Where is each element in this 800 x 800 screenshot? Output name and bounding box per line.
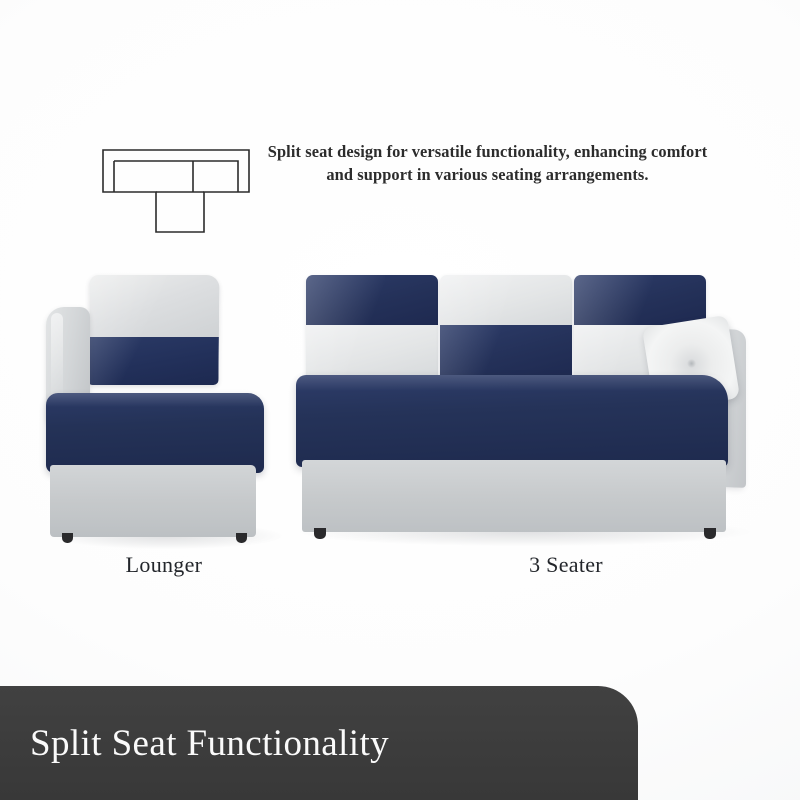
lounger-base [50, 465, 256, 537]
lounger-foot-left [62, 533, 73, 543]
product-3-seater[interactable] [296, 275, 766, 565]
product-infographic-canvas: Split seat design for versatile function… [0, 0, 800, 800]
product-lineup [0, 255, 800, 595]
product-lounger[interactable] [44, 275, 284, 565]
cushion-2-gloss [440, 275, 519, 380]
lounger-seat-cushion [46, 393, 264, 473]
lounger-foot-right [236, 533, 247, 543]
lounger-armrest-highlight [51, 313, 63, 405]
seater3-foot-left [314, 528, 326, 539]
throw-pillow-tuft [686, 358, 696, 368]
seater3-foot-right [704, 528, 716, 539]
cushion-1-gloss [306, 275, 385, 380]
lounger-back-cushion-sheen [88, 275, 174, 385]
cushion-3-gloss [574, 275, 653, 380]
bottom-banner: Split Seat Functionality [0, 686, 638, 800]
lounger-back-cushion [88, 275, 219, 385]
seater3-base [302, 460, 726, 532]
headline-description: Split seat design for versatile function… [265, 140, 710, 187]
caption-3-seater: 3 Seater [446, 552, 686, 578]
info-row: Split seat design for versatile function… [0, 132, 800, 242]
seater3-back-cushion-2 [440, 275, 572, 380]
seater3-back-cushion-group [306, 275, 706, 380]
caption-lounger: Lounger [54, 552, 274, 578]
banner-title: Split Seat Functionality [0, 722, 389, 765]
seater3-seat-cushion [296, 375, 728, 467]
l-shaped-sectional-outline-icon [100, 142, 252, 234]
seater3-back-cushion-1 [306, 275, 438, 380]
